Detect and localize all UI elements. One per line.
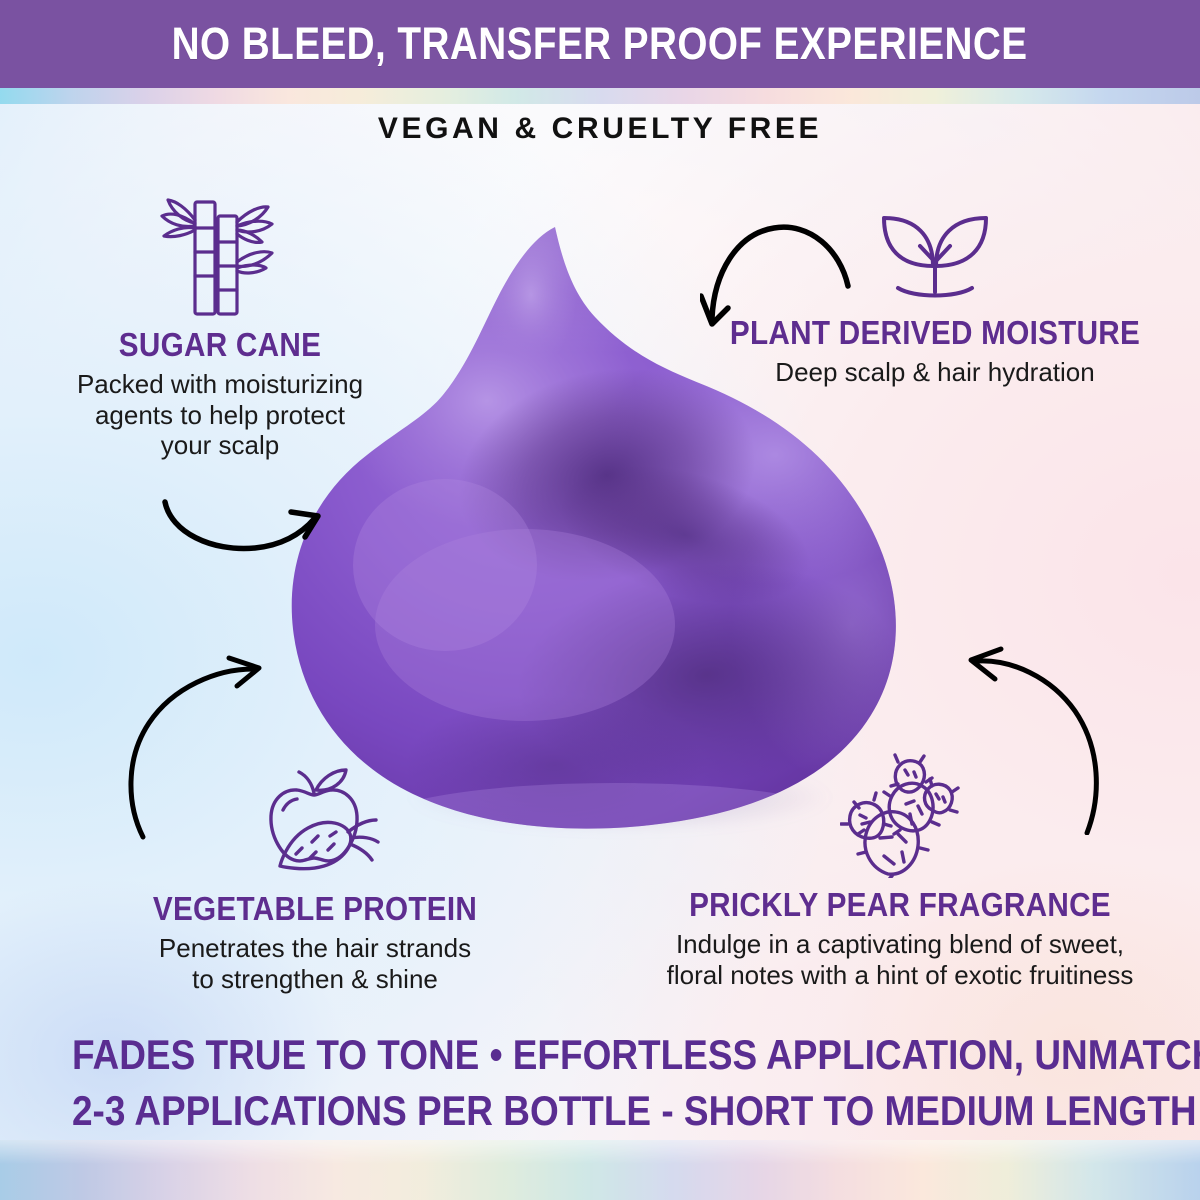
- feature-desc-line: to strengthen & shine: [105, 964, 525, 995]
- feature-desc-line: Penetrates the hair strands: [105, 933, 525, 964]
- sugar-cane-icon: [156, 190, 284, 318]
- holographic-strip-top: [0, 88, 1200, 104]
- claim-line-1: FADES TRUE TO TONE • EFFORTLESS APPLICAT…: [72, 1027, 1128, 1082]
- feature-desc-line: floral notes with a hint of exotic fruit…: [660, 960, 1140, 991]
- bottom-claims: FADES TRUE TO TONE • EFFORTLESS APPLICAT…: [0, 1027, 1200, 1138]
- feature-title: SUGAR CANE: [40, 326, 400, 364]
- arrow-to-product-from-vegetable-icon: [125, 655, 275, 840]
- feature-desc-line: your scalp: [20, 430, 420, 461]
- feature-sugar-cane: SUGAR CANE Packed with moisturizing agen…: [20, 190, 420, 461]
- feature-desc-line: Indulge in a captivating blend of sweet,: [660, 929, 1140, 960]
- claim-line-2: 2-3 APPLICATIONS PER BOTTLE - SHORT TO M…: [72, 1083, 1128, 1138]
- feature-desc-line: Packed with moisturizing: [20, 369, 420, 400]
- header-bar: NO BLEED, TRANSFER PROOF EXPERIENCE: [0, 0, 1200, 88]
- feature-desc-line: Deep scalp & hair hydration: [700, 357, 1170, 388]
- feature-description: Indulge in a captivating blend of sweet,…: [660, 929, 1140, 990]
- arrow-to-product-from-pear-icon: [955, 645, 1105, 835]
- arrow-to-product-from-sugarcane-icon: [155, 492, 335, 562]
- plant-sprout-icon: [876, 196, 994, 306]
- subheader-vegan-cruelty-free: VEGAN & CRUELTY FREE: [0, 112, 1200, 146]
- arrow-to-product-from-plant-icon: [700, 218, 860, 348]
- product-infographic: NO BLEED, TRANSFER PROOF EXPERIENCE VEGA…: [0, 0, 1200, 1200]
- prickly-pear-cactus-icon: [840, 752, 960, 878]
- page-title: NO BLEED, TRANSFER PROOF EXPERIENCE: [172, 18, 1028, 70]
- feature-title: VEGETABLE PROTEIN: [126, 890, 504, 928]
- feature-description: Deep scalp & hair hydration: [700, 357, 1170, 388]
- holographic-strip-bottom: [0, 1140, 1200, 1200]
- feature-title: PRICKLY PEAR FRAGRANCE: [684, 886, 1116, 924]
- feature-description: Packed with moisturizing agents to help …: [20, 369, 420, 461]
- feature-description: Penetrates the hair strands to strengthe…: [105, 933, 525, 994]
- feature-desc-line: agents to help protect: [20, 400, 420, 431]
